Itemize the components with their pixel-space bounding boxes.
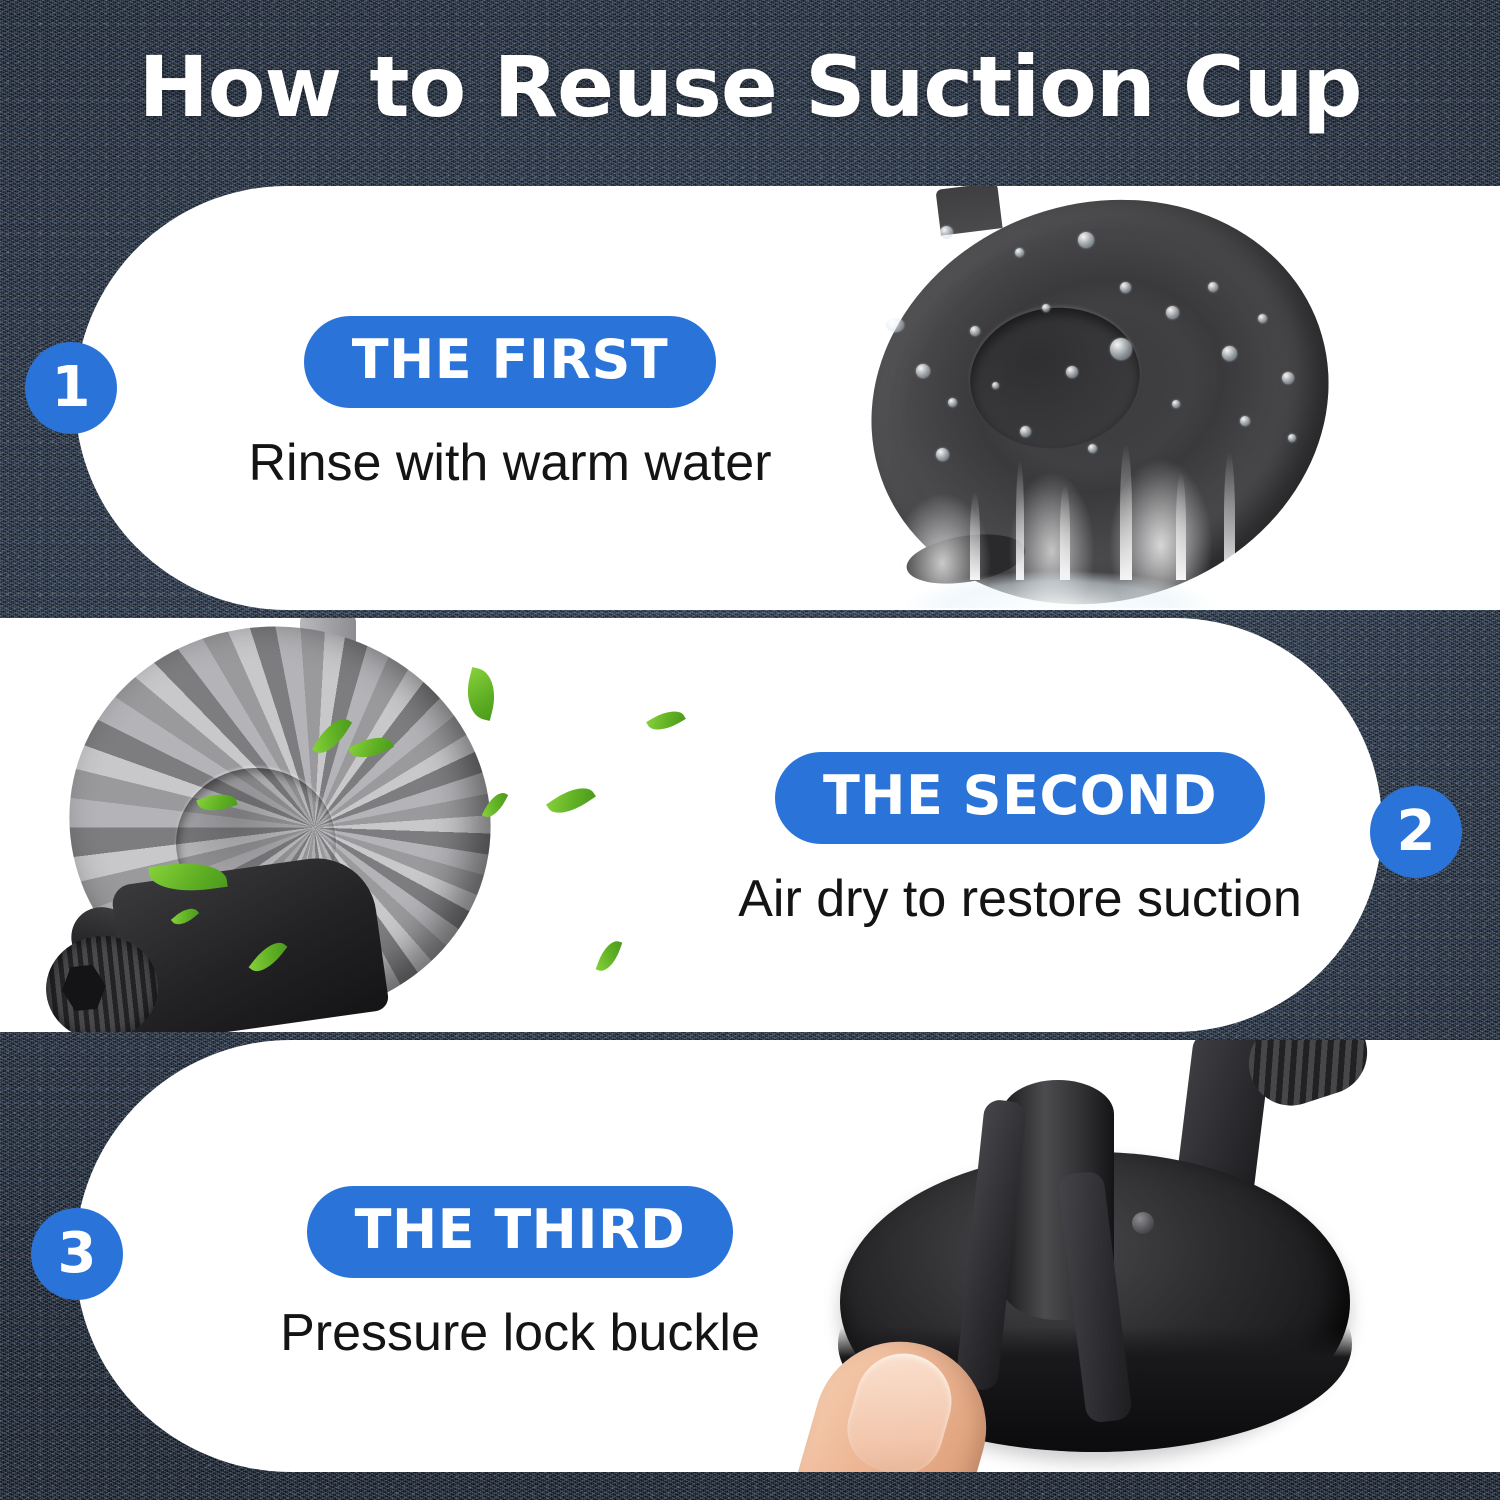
step-1-number-circle: 1	[25, 342, 117, 434]
step-panel-1: THE FIRST Rinse with warm water	[75, 186, 1500, 610]
step-panel-2: THE SECOND Air dry to restore suction	[0, 618, 1382, 1032]
pivot-screw-icon	[1132, 1212, 1154, 1234]
step-2-photo	[0, 618, 700, 1032]
step-3-badge: THE THIRD	[307, 1186, 734, 1278]
step-3-text-block: THE THIRD Pressure lock buckle	[210, 1186, 830, 1365]
step-panel-3: THE THIRD Pressure lock buckle	[75, 1040, 1500, 1472]
page-title: How to Reuse Suction Cup	[0, 42, 1500, 133]
step-1-badge: THE FIRST	[304, 316, 717, 408]
step-2-description: Air dry to restore suction	[690, 868, 1350, 931]
step-2-number-circle: 2	[1370, 786, 1462, 878]
hex-socket-icon	[60, 962, 109, 1014]
step-3-description: Pressure lock buckle	[210, 1302, 830, 1365]
water-splash	[850, 458, 1270, 608]
step-2-badge: THE SECOND	[775, 752, 1265, 844]
step-3-number-circle: 3	[31, 1208, 123, 1300]
step-1-photo	[820, 186, 1500, 610]
step-3-photo	[780, 1040, 1500, 1472]
step-2-text-block: THE SECOND Air dry to restore suction	[690, 752, 1350, 931]
step-1-text-block: THE FIRST Rinse with warm water	[200, 316, 820, 495]
step-1-description: Rinse with warm water	[200, 432, 820, 495]
fingernail	[837, 1342, 962, 1472]
suction-cup-instruction-infographic: How to Reuse Suction Cup	[0, 0, 1500, 1500]
